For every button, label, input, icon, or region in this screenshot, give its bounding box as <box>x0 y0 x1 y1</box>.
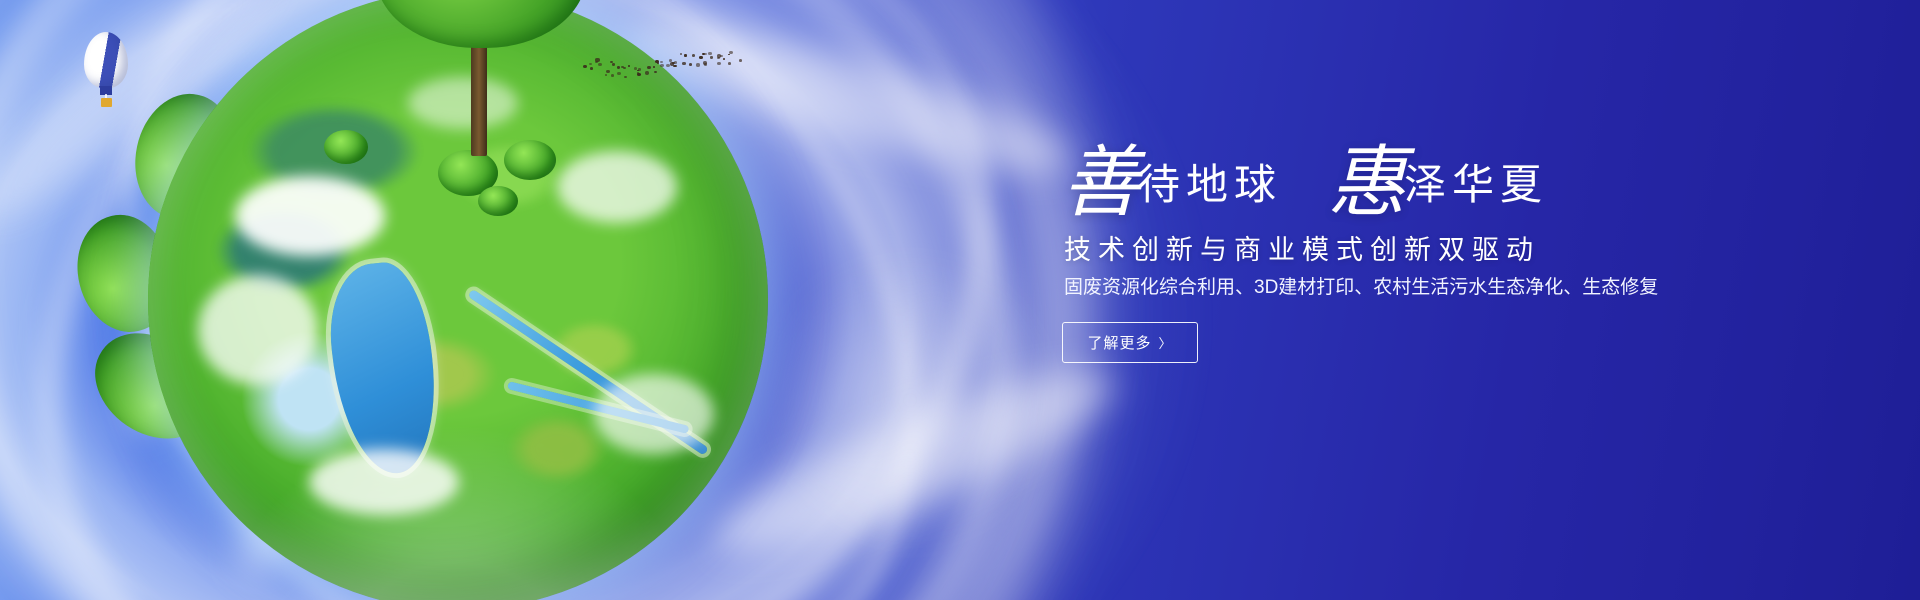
chevron-right-icon: 〉 <box>1159 333 1173 352</box>
bird-icon <box>617 66 620 68</box>
hot-air-balloon-icon <box>84 32 128 110</box>
bird-icon <box>723 58 726 60</box>
headline-group-1: 善待地球 <box>1062 138 1284 216</box>
subheadline: 技术创新与商业模式创新双驱动 <box>1064 228 1540 267</box>
bird-icon <box>590 67 594 70</box>
bird-icon <box>612 63 615 65</box>
balloon-basket <box>101 98 112 107</box>
headline-small-chars: 泽华夏 <box>1404 163 1548 209</box>
bird-icon <box>606 70 610 73</box>
globe-sphere <box>148 0 768 600</box>
bird-icon <box>653 66 655 68</box>
page-title: 善待地球 惠泽华夏 <box>1062 138 1822 216</box>
bird-icon <box>729 51 733 54</box>
bird-icon <box>696 63 700 66</box>
bird-icon <box>611 74 614 77</box>
earth-globe-artwork <box>148 0 768 600</box>
bird-icon <box>623 67 625 69</box>
globe-rim-highlight <box>148 0 768 600</box>
bird-icon <box>704 63 708 66</box>
bird-icon <box>680 53 682 55</box>
bird-icon <box>673 65 676 68</box>
headline-big-char: 善 <box>1062 139 1140 226</box>
bird-icon <box>645 71 649 74</box>
bird-icon <box>598 63 601 66</box>
bird-icon <box>674 61 677 64</box>
bird-icon <box>682 62 685 65</box>
bird-icon <box>689 63 693 66</box>
bird-icon <box>704 53 707 55</box>
bird-icon <box>589 63 592 65</box>
tree-trunk <box>471 38 487 156</box>
headline-group-2: 惠泽华夏 <box>1328 138 1550 216</box>
bird-icon <box>699 56 702 59</box>
bird-icon <box>739 59 742 62</box>
learn-more-label: 了解更多 <box>1087 332 1151 353</box>
bird-flock-icon <box>588 52 738 88</box>
bird-icon <box>657 62 659 64</box>
headline-small-chars: 待地球 <box>1138 163 1282 209</box>
bird-icon <box>692 54 695 57</box>
bird-icon <box>728 62 731 65</box>
headline-big-char: 惠 <box>1328 139 1406 226</box>
bird-icon <box>708 52 711 55</box>
bird-icon <box>717 62 721 65</box>
bird-icon <box>728 54 730 56</box>
hero-banner: 善待地球 惠泽华夏 技术创新与商业模式创新双驱动 固废资源化综合利用、3D建材打… <box>0 0 1920 600</box>
bird-icon <box>654 71 657 73</box>
bird-icon <box>617 72 621 75</box>
bird-icon <box>595 61 598 63</box>
hero-copy-block: 善待地球 惠泽华夏 技术创新与商业模式创新双驱动 固废资源化综合利用、3D建材打… <box>1062 0 1822 600</box>
bird-icon <box>605 74 607 76</box>
bird-icon <box>660 64 663 67</box>
balloon-envelope <box>84 32 128 88</box>
cloud-wisp <box>760 250 1060 550</box>
bird-icon <box>710 56 713 58</box>
bird-icon <box>638 68 641 70</box>
bird-icon <box>647 66 651 69</box>
bird-icon <box>666 64 670 67</box>
bird-icon <box>717 57 720 60</box>
bird-icon <box>628 65 630 67</box>
learn-more-button[interactable]: 了解更多 〉 <box>1062 322 1198 363</box>
bird-icon <box>684 54 687 56</box>
bird-icon <box>624 76 627 78</box>
description-text: 固废资源化综合利用、3D建材打印、农村生活污水生态净化、生态修复 <box>1064 272 1658 299</box>
